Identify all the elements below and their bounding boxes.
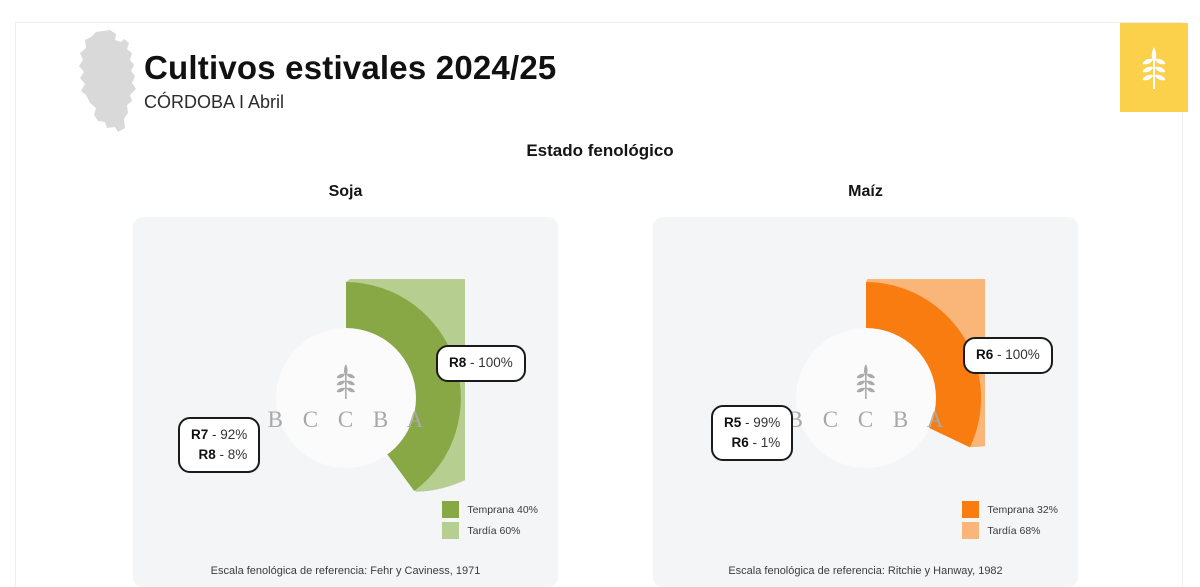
chart-card-soja: B C C B A R8 - 100% R7 - 92% R8 - 8% Tem…	[133, 217, 558, 587]
chart-heading-soja: Soja	[133, 183, 558, 201]
legend-swatch	[962, 522, 979, 539]
legend-item: Tardía 60%	[442, 522, 538, 539]
legend-label: Temprana 40%	[467, 504, 538, 516]
callout-value: 100%	[1005, 347, 1040, 362]
callout-value: 99%	[753, 415, 780, 430]
chart-heading-maiz: Maíz	[653, 183, 1078, 201]
page-title: Cultivos estivales 2024/25	[144, 51, 556, 86]
legend-label: Temprana 32%	[987, 504, 1058, 516]
chart-card-maiz: B C C B A R6 - 100% R5 - 99% R6 - 1% Tem…	[653, 217, 1078, 587]
chart-column-maiz: Maíz	[653, 183, 1078, 587]
legend-swatch	[442, 522, 459, 539]
legend-maiz: Temprana 32% Tardía 68%	[962, 501, 1058, 539]
legend-item: Temprana 32%	[962, 501, 1058, 518]
callout-value: 92%	[220, 427, 247, 442]
callout-stage: R7	[191, 427, 208, 442]
callout-value: 100%	[478, 355, 513, 370]
soja-callout-temprana: R8 - 100%	[436, 345, 526, 382]
page-subtitle: CÓRDOBA I Abril	[144, 92, 556, 113]
chart-column-soja: Soja	[133, 183, 558, 587]
legend-label: Tardía 68%	[987, 525, 1040, 537]
callout-stage: R6	[732, 435, 749, 450]
callout-stage: R8	[199, 447, 216, 462]
chart-footnote-maiz: Escala fenológica de referencia: Ritchie…	[653, 565, 1078, 577]
donut-chart-maiz: B C C B A	[747, 279, 985, 517]
brand-tab	[1120, 23, 1188, 112]
donut-chart-soja: B C C B A	[227, 279, 465, 517]
maiz-callout-temprana: R6 - 100%	[963, 337, 1053, 374]
soja-callout-tardia: R7 - 92% R8 - 8%	[178, 417, 260, 473]
report-card: Cultivos estivales 2024/25 CÓRDOBA I Abr…	[15, 22, 1183, 587]
callout-value: 1%	[761, 435, 781, 450]
callout-value: 8%	[228, 447, 248, 462]
legend-swatch	[962, 501, 979, 518]
legend-soja: Temprana 40% Tardía 60%	[442, 501, 538, 539]
callout-stage: R8	[449, 355, 466, 370]
legend-label: Tardía 60%	[467, 525, 520, 537]
legend-swatch	[442, 501, 459, 518]
wheat-icon	[1139, 45, 1169, 91]
callout-stage: R5	[724, 415, 741, 430]
legend-item: Tardía 68%	[962, 522, 1058, 539]
maiz-callout-tardia: R5 - 99% R6 - 1%	[711, 405, 793, 461]
title-block: Cultivos estivales 2024/25 CÓRDOBA I Abr…	[144, 51, 556, 113]
section-title: Estado fenológico	[16, 141, 1184, 161]
callout-stage: R6	[976, 347, 993, 362]
cordoba-province-map-icon	[72, 29, 150, 139]
report-header: Cultivos estivales 2024/25 CÓRDOBA I Abr…	[16, 23, 1182, 153]
legend-item: Temprana 40%	[442, 501, 538, 518]
chart-footnote-soja: Escala fenológica de referencia: Fehr y …	[133, 565, 558, 577]
